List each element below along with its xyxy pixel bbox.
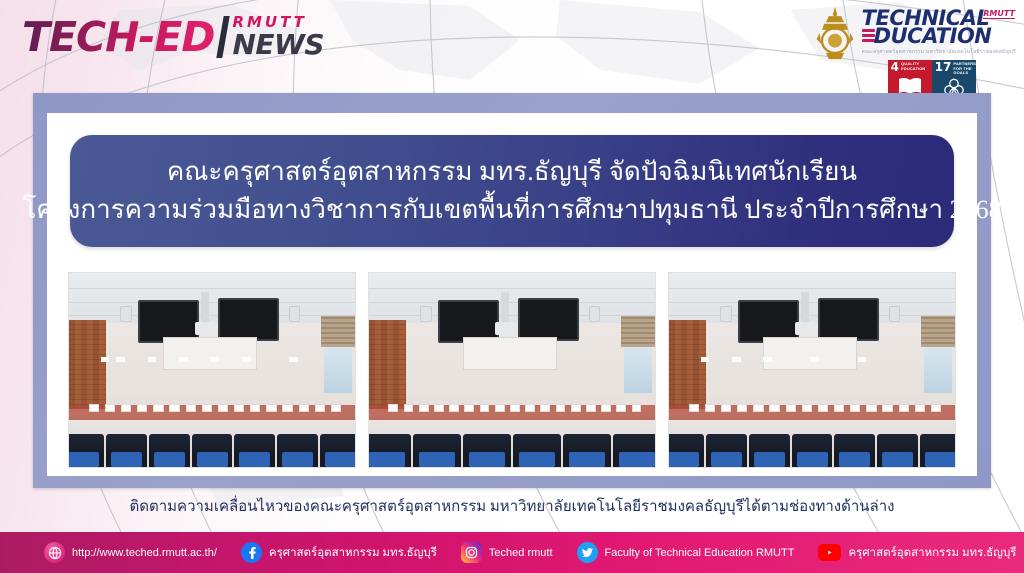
facebook-page-label: ครุศาสตร์อุตสาหกรรม มทร.ธัญบุรี xyxy=(269,544,437,562)
logo-divider-bar xyxy=(217,16,230,58)
tv-monitor-right xyxy=(218,298,279,341)
title-banner: คณะครุศาสตร์อุตสาหกรรม มทร.ธัญบุรี จัดปั… xyxy=(70,135,954,247)
speaker-right xyxy=(289,306,300,322)
logo-org-rmutt-text: RMUTT xyxy=(983,9,1015,19)
speaker-left xyxy=(120,306,131,322)
ceiling xyxy=(669,273,955,323)
twitter-handle-label: Faculty of Technical Education RMUTT xyxy=(605,547,795,559)
ceiling-projector xyxy=(201,292,210,335)
logo-education-text: DUCATION xyxy=(874,26,992,46)
social-footer-bar: http://www.teched.rmutt.ac.th/ ครุศาสตร์… xyxy=(0,532,1024,573)
tv-monitor-right xyxy=(518,298,579,341)
teched-news-logo: TECH-ED RMUTT NEWS xyxy=(22,14,324,60)
speaker-left xyxy=(420,306,431,322)
people-row-front xyxy=(386,384,643,434)
twitter-icon xyxy=(577,542,598,563)
youtube-icon xyxy=(818,544,841,561)
logo-thai-subtitle: คณะครุศาสตร์อุตสาหกรรม มหาวิทยาลัยเทคโนโ… xyxy=(862,48,1016,56)
auditorium-chairs xyxy=(368,434,656,467)
youtube-channel-label: ครุศาสตร์อุตสาหกรรม มทร.ธัญบุรี xyxy=(848,544,1016,562)
people-row-front xyxy=(86,384,343,434)
auditorium-chairs xyxy=(668,434,956,467)
poster-header: TECH-ED RMUTT NEWS xyxy=(0,0,1024,93)
instagram-icon xyxy=(461,542,482,563)
footer-item-twitter[interactable]: Faculty of Technical Education RMUTT xyxy=(577,542,795,563)
technical-education-logo: TECHNICAL RMUTT DUCATION คณะครุศาสตร์อุต… xyxy=(862,8,1016,102)
logo-news-text: NEWS xyxy=(232,31,324,59)
title-line-2: โครงการความร่วมมือทางวิชาการกับเขตพื้นที… xyxy=(22,191,1001,229)
header-right-cluster: TECHNICAL RMUTT DUCATION คณะครุศาสตร์อุต… xyxy=(812,3,1016,102)
speaker-left xyxy=(720,306,731,322)
logo-teched-text: TECH-ED xyxy=(22,14,214,60)
poster-page: TECH-ED RMUTT NEWS xyxy=(0,0,1024,573)
ceiling xyxy=(69,273,355,323)
sdg-17-label: PARTNERSHIPS FOR THE GOALS xyxy=(953,62,985,76)
globe-web-icon xyxy=(44,542,65,563)
photo-3 xyxy=(668,272,956,468)
photo-gallery xyxy=(68,272,956,468)
sdg-4-number: 4 xyxy=(891,62,899,72)
window-blind xyxy=(921,316,955,347)
people-row-front xyxy=(686,384,943,434)
window-blind xyxy=(621,316,655,347)
ceiling-projector xyxy=(801,292,810,335)
sdg-17-number: 17 xyxy=(935,62,952,72)
speaker-right xyxy=(589,306,600,322)
facebook-icon xyxy=(241,542,262,563)
website-url-label: http://www.teched.rmutt.ac.th/ xyxy=(72,547,217,559)
footer-item-instagram[interactable]: Teched rmutt xyxy=(461,542,553,563)
ceiling xyxy=(369,273,655,323)
tv-monitor-right xyxy=(818,298,879,341)
window-blind xyxy=(321,316,355,347)
footer-item-website[interactable]: http://www.teched.rmutt.ac.th/ xyxy=(44,542,217,563)
footer-item-youtube[interactable]: ครุศาสตร์อุตสาหกรรม มทร.ธัญบุรี xyxy=(818,544,1016,562)
photo-2 xyxy=(368,272,656,468)
title-line-1: คณะครุศาสตร์อุตสาหกรรม มทร.ธัญบุรี จัดปั… xyxy=(167,153,857,191)
ceiling-projector xyxy=(501,292,510,335)
auditorium-chairs xyxy=(68,434,356,467)
photo-1 xyxy=(68,272,356,468)
follow-us-caption: ติดตามความเคลื่อนไหวของคณะครุศาสตร์อุตสา… xyxy=(0,494,1024,518)
footer-item-facebook[interactable]: ครุศาสตร์อุตสาหกรรม มทร.ธัญบุรี xyxy=(241,542,437,563)
sdg-4-label: QUALITY EDUCATION xyxy=(901,62,929,71)
rmutt-emblem-icon xyxy=(812,5,858,61)
instagram-handle-label: Teched rmutt xyxy=(489,547,553,559)
speaker-right xyxy=(889,306,900,322)
